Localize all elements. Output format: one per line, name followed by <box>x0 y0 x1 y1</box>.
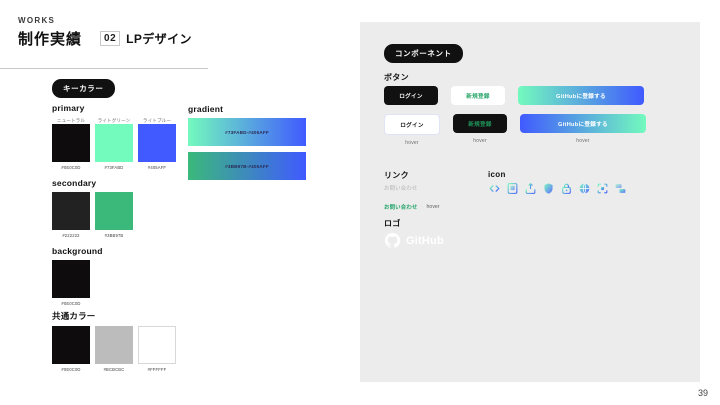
swatch: #BCBCBC <box>95 326 133 372</box>
clipboard-icon <box>506 182 519 195</box>
globe-icon <box>578 182 591 195</box>
swatch-hex: #0E0C0D <box>61 367 80 372</box>
swatch-hex: #73FABD <box>105 165 124 170</box>
hover-label: hover <box>576 138 590 144</box>
swatch-hex: #0E0C0D <box>61 301 80 306</box>
swatch-group-common: 共通カラー #0E0C0D #BCBCBC #FFFFFF <box>52 310 176 372</box>
slide: WORKS 制作実績 02 LPデザイン キーカラー primary ニュートラ… <box>0 0 720 405</box>
login-button-hover[interactable]: ログイン <box>384 114 440 135</box>
swatch-chip <box>95 326 133 364</box>
github-wordmark: GitHub <box>406 235 444 247</box>
github-button-group: GitHubに登録する <box>518 86 644 105</box>
logo-section-title: ロゴ <box>384 218 401 229</box>
swatch-name: ライトグリーン <box>98 117 131 124</box>
swatch-hex: #0E0C0D <box>61 165 80 170</box>
button-samples: ログイン 新規登録 GitHubに登録する ログイン hover 新規登録 ho… <box>384 86 684 146</box>
icon-samples <box>488 182 627 195</box>
lock-icon <box>560 182 573 195</box>
link-samples: お問い合わせ お問い合わせ hover <box>384 184 440 211</box>
swatch-group-primary: primary ニュートラル #0E0C0D ライトグリーン #73FABD ラ… <box>52 103 176 170</box>
swatch-chip <box>52 260 90 298</box>
swatch: #3BB97B <box>95 192 133 238</box>
swatch: #0E0C0D <box>52 260 90 306</box>
scan-icon <box>596 182 609 195</box>
key-color-column: キーカラー primary ニュートラル #0E0C0D ライトグリーン #73… <box>0 0 360 405</box>
swatch-chip <box>95 192 133 230</box>
page-number: 39 <box>698 388 708 398</box>
gradient-group: gradient #73FABD-#405AFF #3BB97B-#405AFF <box>188 104 306 180</box>
swatch-row: #222222 #3BB97B <box>52 192 133 238</box>
swatch-chip <box>95 124 133 162</box>
gradient-label: #73FABD-#405AFF <box>225 130 269 135</box>
swatch-chip <box>52 326 90 364</box>
group-title: primary <box>52 103 176 113</box>
swatch-chip <box>52 124 90 162</box>
github-logo: GitHub <box>384 232 444 249</box>
group-title: background <box>52 246 103 256</box>
key-color-badge: キーカラー <box>52 79 115 98</box>
icon-section-title: icon <box>488 170 506 179</box>
github-signup-button-hover[interactable]: GitHubに登録する <box>520 114 646 133</box>
upload-box-icon <box>524 182 537 195</box>
swatch-chip <box>138 124 176 162</box>
link-section-title: リンク <box>384 170 409 181</box>
login-button-hover-group: ログイン hover <box>384 114 440 146</box>
login-button-group: ログイン <box>384 86 438 105</box>
group-title: gradient <box>188 104 306 114</box>
swatch-hex: #405AFF <box>148 165 166 170</box>
signup-button-group: 新規登録 <box>451 86 505 105</box>
shield-icon <box>542 182 555 195</box>
swatch-hex: #222222 <box>62 233 79 238</box>
swatch: ライトグリーン #73FABD <box>95 117 133 170</box>
component-panel: コンポーネント ボタン ログイン 新規登録 GitHubに登録する ログイン h… <box>360 22 700 382</box>
group-title: 共通カラー <box>52 310 176 322</box>
swatch-name: ニュートラル <box>57 117 85 124</box>
swatch-group-background: background #0E0C0D <box>52 246 103 306</box>
button-section-title: ボタン <box>384 72 409 83</box>
swatch: ニュートラル #0E0C0D <box>52 117 90 170</box>
gradient-label: #3BB97B-#405AFF <box>225 164 269 169</box>
button-row-hover: ログイン hover 新規登録 hover GitHubに登録する hover <box>384 114 684 146</box>
contact-link-hover[interactable]: お問い合わせ <box>384 203 418 211</box>
hover-label: hover <box>405 140 419 146</box>
server-stack-icon <box>614 182 627 195</box>
swatch-hex: #BCBCBC <box>104 367 125 372</box>
swatch: #222222 <box>52 192 90 238</box>
swatch-name: ライトブルー <box>143 117 171 124</box>
swatch-group-secondary: secondary #222222 #3BB97B <box>52 178 133 238</box>
swatch: ライトブルー #405AFF <box>138 117 176 170</box>
contact-link-hover-row: お問い合わせ hover <box>384 203 440 211</box>
swatch-chip <box>52 192 90 230</box>
button-row-default: ログイン 新規登録 GitHubに登録する <box>384 86 684 105</box>
swatch-hex: #3BB97B <box>105 233 124 238</box>
hover-label: hover <box>427 204 440 210</box>
swatch: #0E0C0D <box>52 326 90 372</box>
group-title: secondary <box>52 178 133 188</box>
component-badge: コンポーネント <box>384 44 463 63</box>
swatch-chip <box>138 326 176 364</box>
github-button-hover-group: GitHubに登録する hover <box>520 114 646 144</box>
swatch-row: #0E0C0D <box>52 260 103 306</box>
signup-button-hover-group: 新規登録 hover <box>453 114 507 144</box>
contact-link[interactable]: お問い合わせ <box>384 184 440 192</box>
swatch-row: #0E0C0D #BCBCBC #FFFFFF <box>52 326 176 372</box>
login-button[interactable]: ログイン <box>384 86 438 105</box>
github-signup-button[interactable]: GitHubに登録する <box>518 86 644 105</box>
github-mark-icon <box>384 232 401 249</box>
gradient-bar: #73FABD-#405AFF <box>188 118 306 146</box>
swatch: #FFFFFF <box>138 326 176 372</box>
swatch-row: ニュートラル #0E0C0D ライトグリーン #73FABD ライトブルー #4… <box>52 117 176 170</box>
code-icon <box>488 182 501 195</box>
hover-label: hover <box>473 138 487 144</box>
signup-button-hover[interactable]: 新規登録 <box>453 114 507 133</box>
signup-button[interactable]: 新規登録 <box>451 86 505 105</box>
swatch-hex: #FFFFFF <box>148 367 167 372</box>
gradient-bar: #3BB97B-#405AFF <box>188 152 306 180</box>
